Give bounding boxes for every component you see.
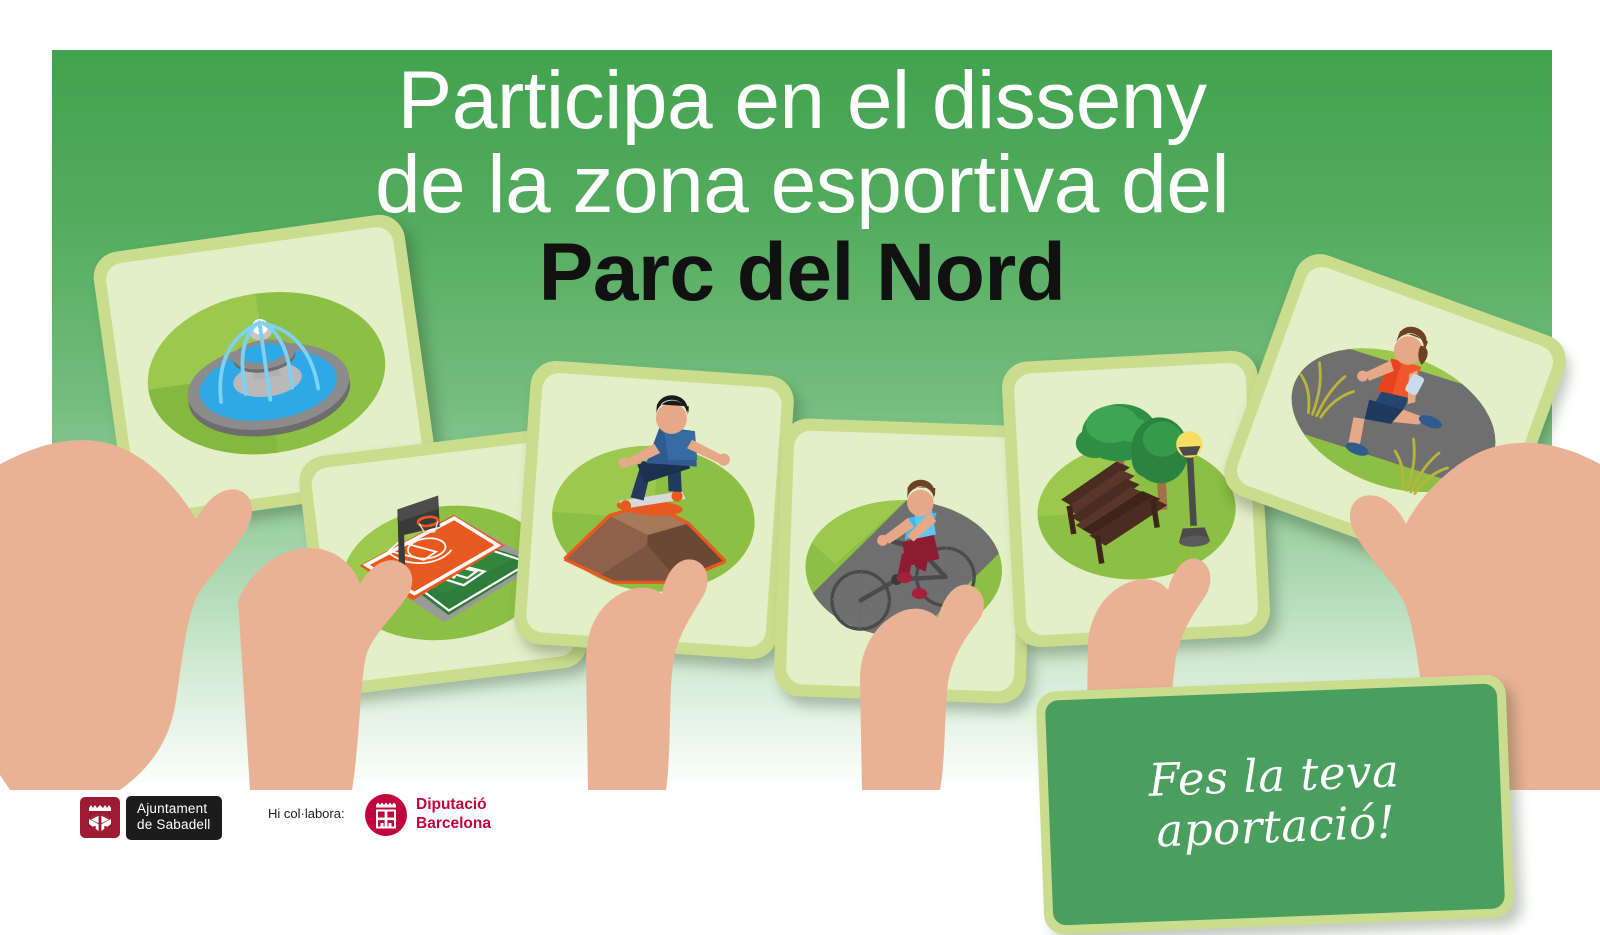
footer-logos: Ajuntament de Sabadell Hi col·labora: Di… [0,786,1600,900]
sabadell-line-2: de Sabadell [137,817,211,833]
sabadell-wordmark: Ajuntament de Sabadell [126,796,222,840]
diputacio-crest-icon [365,794,407,836]
card-cycling[interactable] [773,418,1035,705]
logo-ajuntament-sabadell[interactable]: Ajuntament de Sabadell [80,796,222,840]
card-skatepark[interactable] [512,359,795,661]
park-bench-icon [1013,362,1258,636]
banner-stage: Participa en el disseny de la zona espor… [0,0,1600,900]
cyclist-icon [786,430,1023,692]
sabadell-crest-icon [80,797,120,838]
card-benchtrees[interactable] [1001,349,1272,648]
diputacio-line-1: Diputació [416,796,491,815]
collaborates-label: Hi col·labora: [268,806,345,821]
card-skatepark-face [525,372,783,648]
diputacio-wordmark: Diputació Barcelona [416,796,491,833]
diputacio-line-2: Barcelona [416,815,491,834]
logo-diputacio-barcelona[interactable]: Diputació Barcelona [365,794,491,836]
card-benchtrees-face [1013,362,1258,636]
skatepark-icon [525,372,783,648]
card-cycling-face [786,430,1023,692]
sabadell-line-1: Ajuntament [137,801,211,817]
